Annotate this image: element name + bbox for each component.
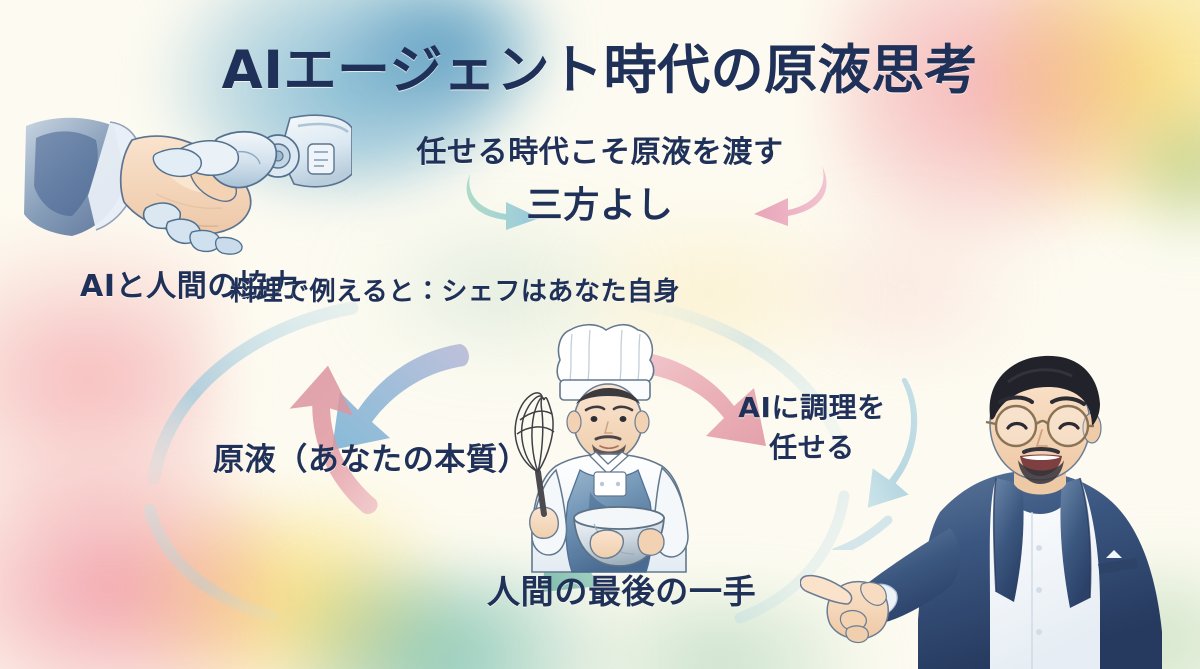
subtitle-line-1: 任せる時代こそ原液を渡す <box>0 127 1200 171</box>
poster-canvas: AIエージェント時代の原液思考 任せる時代こそ原液を渡す 三方よし AIと人間の… <box>0 0 1200 669</box>
cycle-label-ai-cooking: AIに調理を 任せる <box>737 388 887 468</box>
cycle-label-genneki: 原液（あなたの本質） <box>213 434 529 479</box>
chef-illustration <box>498 322 720 574</box>
cycle-label-human-final-move: 人間の最後の一手 <box>487 565 756 613</box>
caption-cooking-analogy: 料理で例えると：シェフはあなた自身 <box>0 271 910 308</box>
page-title: AIエージェント時代の原液思考 <box>0 28 1200 104</box>
cycle-label-ai-cooking-line2: 任せる <box>737 428 887 468</box>
cycle-label-ai-cooking-line1: AIに調理を <box>737 388 887 428</box>
subtitle-line-2: 三方よし <box>0 176 1200 228</box>
